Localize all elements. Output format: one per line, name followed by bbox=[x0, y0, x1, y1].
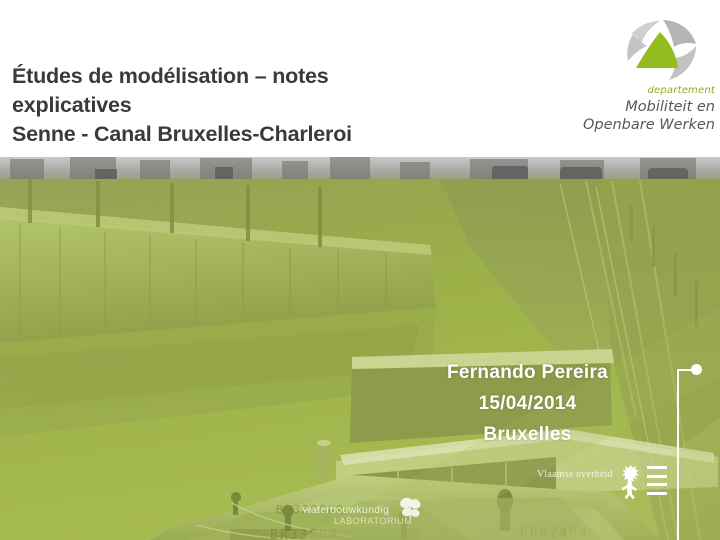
decor-vertical-line bbox=[677, 369, 679, 540]
page-title: Études de modélisation – notes explicati… bbox=[12, 62, 482, 149]
flemish-lion-icon bbox=[617, 463, 643, 501]
vlaanderen-bars-icon bbox=[647, 466, 667, 498]
departement-triskelion-icon bbox=[626, 18, 698, 86]
title-line-3: Senne - Canal Bruxelles-Charleroi bbox=[12, 120, 482, 149]
vlaamse-overheid-label: Vlaamse overheid bbox=[537, 469, 613, 480]
departement-sub-label: departement bbox=[570, 84, 715, 98]
wbl-line-1: waterbouwkundig bbox=[303, 504, 389, 516]
slide-header: Études de modélisation – notes explicati… bbox=[0, 0, 720, 157]
waterbouwkundig-laboratorium-logo: waterbouwkundig LABORATORIUM bbox=[303, 496, 433, 532]
title-line-2: explicatives bbox=[12, 91, 482, 120]
departement-line-2: Openbare Werken bbox=[570, 116, 715, 134]
presentation-date: 15/04/2014 bbox=[400, 388, 655, 419]
vlaamse-overheid-logo: Vlaamse overheid bbox=[537, 463, 667, 503]
speaker-info-block: Fernando Pereira 15/04/2014 Bruxelles bbox=[400, 357, 655, 450]
waterbouwkundig-laboratorium-icon bbox=[397, 496, 423, 520]
presentation-slide: BR33800 BR33800R 6002484 RIVER BOY F bbox=[0, 0, 720, 540]
title-line-1: Études de modélisation – notes bbox=[12, 62, 482, 91]
presentation-location: Bruxelles bbox=[400, 419, 655, 450]
decor-dot bbox=[691, 364, 702, 375]
departement-line-1: Mobiliteit en bbox=[570, 98, 715, 116]
departement-wordmark: departement Mobiliteit en Openbare Werke… bbox=[570, 84, 715, 134]
departement-logo: departement Mobiliteit en Openbare Werke… bbox=[570, 18, 715, 136]
speaker-name: Fernando Pereira bbox=[400, 357, 655, 388]
